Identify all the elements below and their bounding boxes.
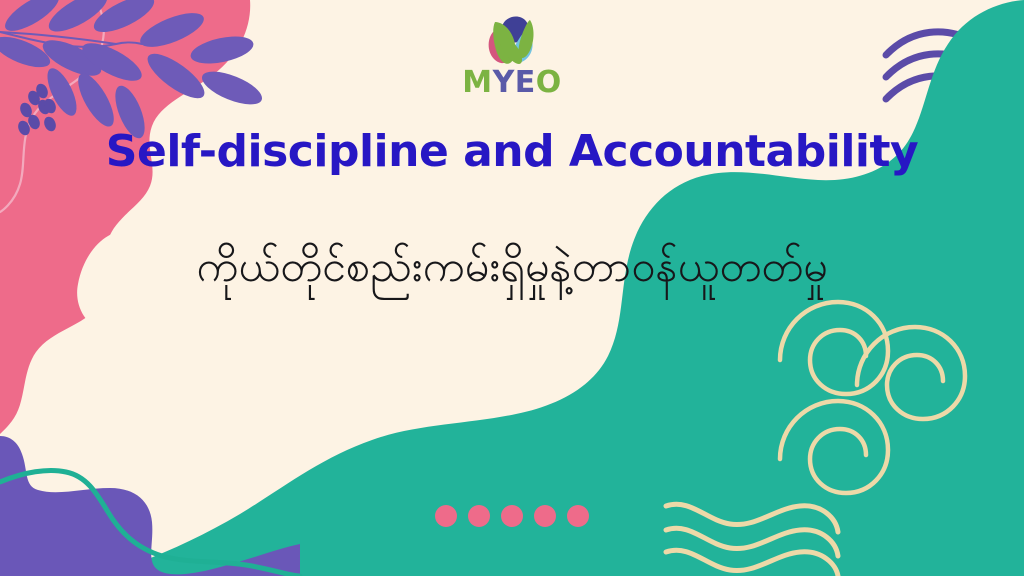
dot-1 (435, 505, 457, 527)
dot-3 (501, 505, 523, 527)
dot-2 (468, 505, 490, 527)
slide-subtitle-burmese: ကိုယ်တိုင်စည်းကမ်းရှိမှုနဲ့တာဝန်ယူတတ်မှု (0, 238, 1024, 296)
dot-5 (567, 505, 589, 527)
spiral-1 (780, 302, 888, 394)
logo-letters-ye: YE (493, 65, 536, 100)
logo: MYEO (0, 12, 1024, 98)
dot-4 (534, 505, 556, 527)
tan-wave-2 (666, 528, 838, 556)
logo-wordmark: MYEO (0, 68, 1024, 98)
slide-title: Self-discipline and Accountability (0, 126, 1024, 177)
logo-letter-m: M (462, 65, 492, 100)
spiral-3 (780, 401, 888, 493)
tan-wave-3 (666, 550, 838, 576)
decorative-dot-row (0, 505, 1024, 527)
myeo-leaf-emblem-icon (481, 12, 543, 70)
spiral-2 (857, 327, 965, 419)
tan-spirals (780, 302, 965, 493)
slide-canvas: MYEO Self-discipline and Accountability … (0, 0, 1024, 576)
logo-letter-o: O (536, 65, 562, 100)
